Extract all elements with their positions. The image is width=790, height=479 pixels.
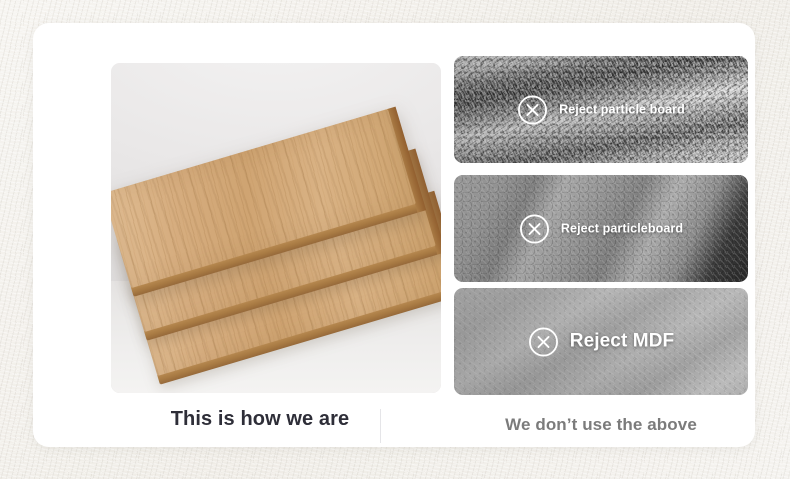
caption-solid-wood: This is how we are xyxy=(111,408,409,431)
circle-x-icon xyxy=(517,94,548,125)
reject-card-particleboard[interactable]: Reject particleboard xyxy=(454,175,748,282)
caption-divider xyxy=(380,409,381,443)
reject-overlay: Reject particleboard xyxy=(454,213,748,244)
solid-wood-hero-image xyxy=(111,63,441,393)
circle-x-icon xyxy=(519,213,550,244)
reject-overlay: Reject MDF xyxy=(454,326,748,357)
reject-card-label: Reject MDF xyxy=(570,331,674,353)
circle-x-icon xyxy=(528,326,559,357)
reject-overlay: Reject particle board xyxy=(454,94,748,125)
reject-card-label: Reject particle board xyxy=(559,103,685,117)
comparison-panel: Reject particle board Reject particleboa… xyxy=(33,23,755,447)
reject-card-label: Reject particleboard xyxy=(561,222,683,236)
reject-card-mdf[interactable]: Reject MDF xyxy=(454,288,748,395)
caption-rejected-materials: We don’t use the above xyxy=(454,415,748,435)
reject-card-particle-board[interactable]: Reject particle board xyxy=(454,56,748,163)
